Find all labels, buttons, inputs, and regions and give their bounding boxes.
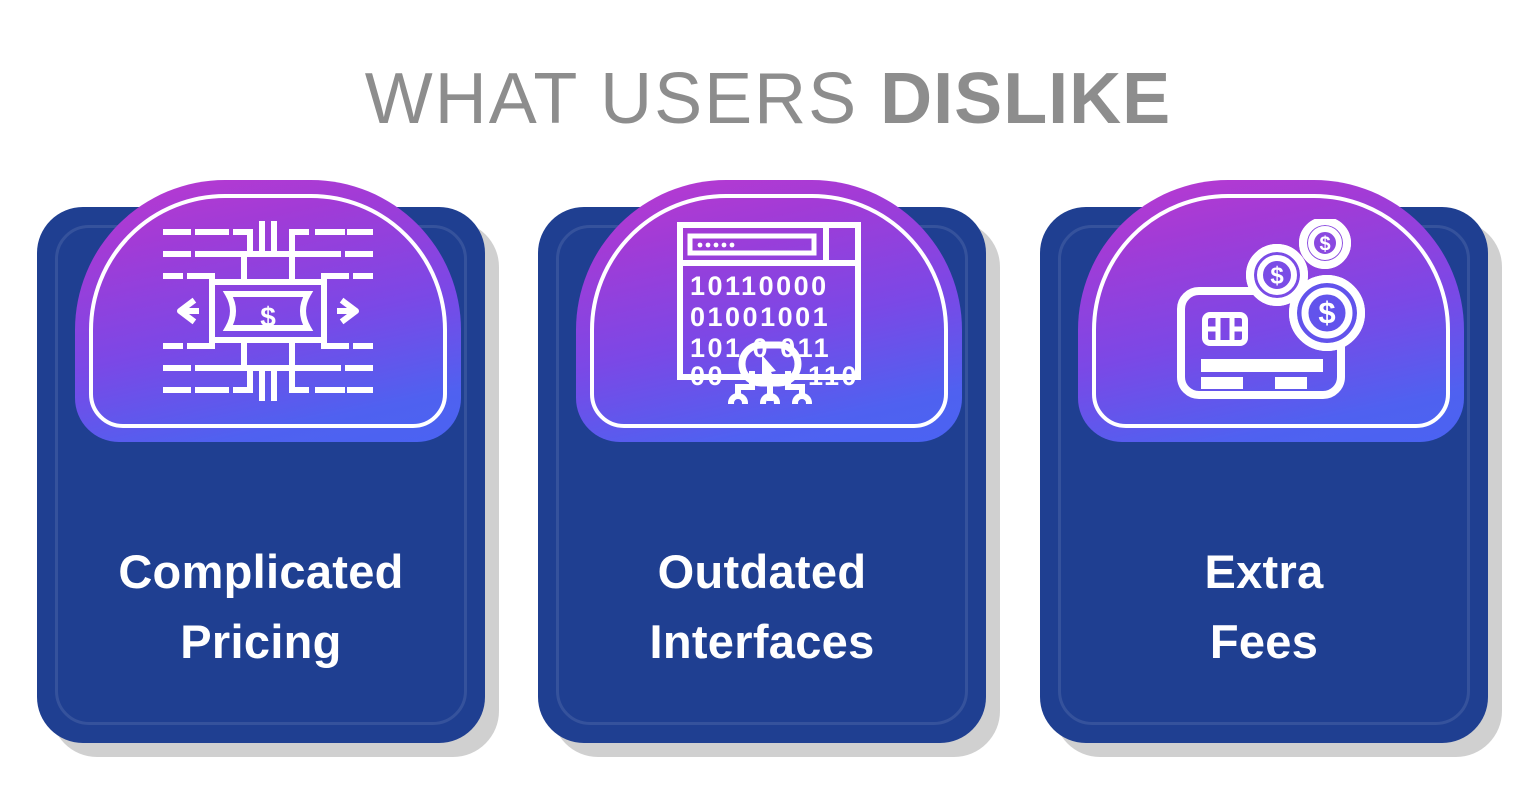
svg-text:01001001: 01001001 — [690, 302, 830, 332]
card-icon-dome: $ $ $ — [1078, 180, 1464, 442]
page-title: WHAT USERS DISLIKE — [0, 58, 1536, 140]
card-label: Outdated Interfaces — [538, 537, 986, 676]
card-outdated-interfaces[interactable]: 10110000 01001001 101 0 011 00 110 — [538, 207, 986, 743]
card-complicated-pricing[interactable]: $ — [37, 207, 485, 743]
infographic-root: WHAT USERS DISLIKE — [0, 0, 1536, 801]
card-label: Extra Fees — [1040, 537, 1488, 676]
svg-text:10110000: 10110000 — [690, 271, 829, 301]
banknote-circuit-icon: $ — [75, 180, 461, 442]
credit-card-coins-icon: $ $ $ — [1078, 180, 1464, 442]
binary-browser-window-icon: 10110000 01001001 101 0 011 00 110 — [576, 180, 962, 442]
svg-text:00: 00 — [690, 361, 725, 391]
card-extra-fees[interactable]: $ $ $ — [1040, 207, 1488, 743]
svg-text:$: $ — [1318, 295, 1335, 330]
svg-text:$: $ — [1319, 233, 1330, 255]
card-icon-dome: $ — [75, 180, 461, 442]
page-title-light: WHAT USERS — [365, 59, 880, 139]
svg-text:$: $ — [1270, 262, 1284, 289]
cards-row: $ — [0, 180, 1536, 780]
svg-text:$: $ — [260, 301, 276, 332]
card-icon-dome: 10110000 01001001 101 0 011 00 110 — [576, 180, 962, 442]
page-title-bold: DISLIKE — [880, 59, 1171, 139]
card-label: Complicated Pricing — [37, 537, 485, 676]
svg-text:110: 110 — [808, 361, 859, 391]
